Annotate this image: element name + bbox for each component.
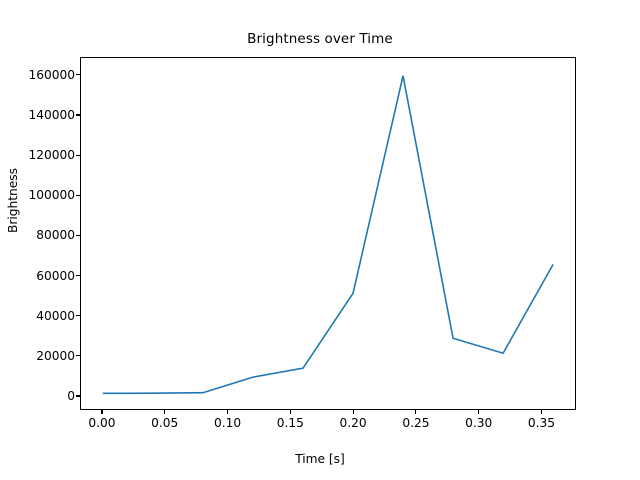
brightness-line-series: [103, 76, 553, 394]
chart-title: Brightness over Time: [0, 31, 640, 47]
plot-area: [80, 57, 576, 410]
figure-canvas: Brightness over Time Brightness Time [s]…: [0, 0, 640, 480]
y-tick-label: 60000: [36, 269, 75, 283]
y-tick-label: 80000: [36, 228, 75, 242]
data-line-svg: [81, 58, 575, 409]
x-tick-label: 0.25: [402, 416, 429, 430]
x-tick-label: 0.35: [528, 416, 555, 430]
y-axis-label: Brightness: [6, 168, 20, 233]
x-tick-mark: [353, 410, 354, 414]
x-tick-mark: [478, 410, 479, 414]
x-tick-mark: [541, 410, 542, 414]
y-tick-label: 120000: [28, 148, 75, 162]
y-tick-label: 0: [67, 389, 75, 403]
x-tick-mark: [164, 410, 165, 414]
x-tick-label: 0.05: [151, 416, 178, 430]
y-tick-label: 40000: [36, 309, 75, 323]
y-tick-label: 160000: [28, 68, 75, 82]
x-tick-mark: [290, 410, 291, 414]
x-tick-label: 0.00: [88, 416, 115, 430]
x-tick-label: 0.15: [277, 416, 304, 430]
x-tick-mark: [415, 410, 416, 414]
x-tick-mark: [101, 410, 102, 414]
y-tick-label: 140000: [28, 108, 75, 122]
x-tick-label: 0.10: [214, 416, 241, 430]
x-tick-mark: [227, 410, 228, 414]
y-tick-label: 20000: [36, 349, 75, 363]
x-tick-label: 0.20: [340, 416, 367, 430]
y-tick-label: 100000: [28, 188, 75, 202]
x-axis-label: Time [s]: [0, 452, 640, 466]
x-tick-label: 0.30: [465, 416, 492, 430]
